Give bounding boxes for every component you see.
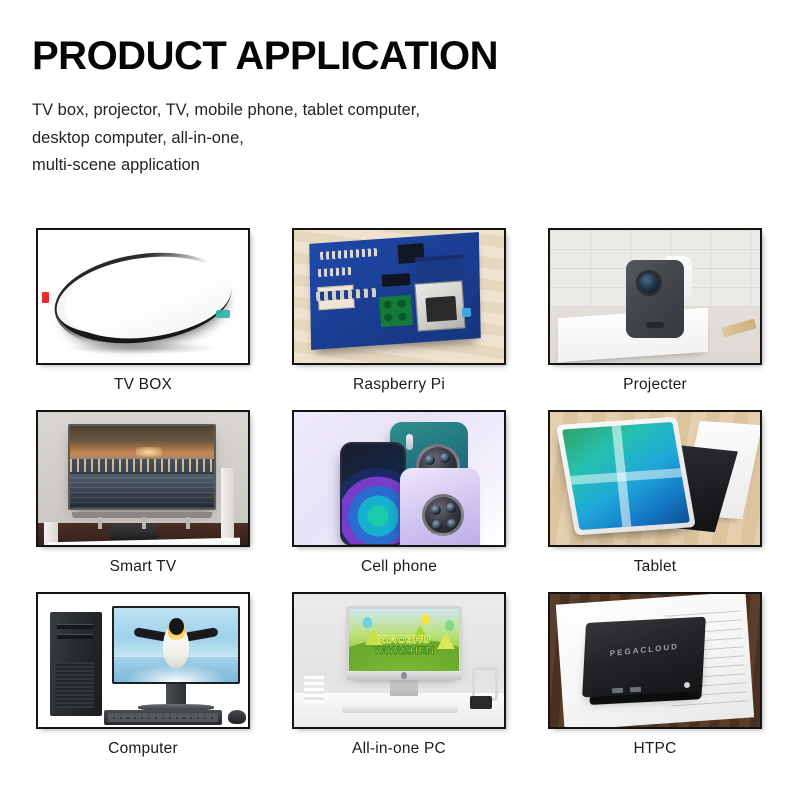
gallery-item-tv-box: TV BOX (36, 228, 250, 405)
caption-htpc: HTPC (548, 729, 762, 769)
desktop-tower (50, 612, 102, 716)
mouse (228, 710, 246, 724)
caption-tv-box: TV BOX (36, 365, 250, 405)
htpc-brand-label: PEGACLOUD (610, 641, 679, 657)
caption-raspberry-pi: Raspberry Pi (292, 365, 506, 405)
monitor-bezel (112, 606, 240, 684)
tablet-body (556, 417, 696, 536)
pcb-green-terminal (379, 295, 413, 327)
aio-chin (346, 671, 462, 680)
phone-camera-module-2 (422, 494, 464, 536)
header: PRODUCT APPLICATION TV box, projector, T… (32, 36, 768, 180)
tv-screen-image (70, 426, 214, 508)
aio-screen: XIAOZHU YAYAZHEN (349, 609, 459, 675)
page-title: PRODUCT APPLICATION (32, 36, 768, 77)
monitor-screen (114, 608, 238, 682)
gallery-item-projector: Projecter (548, 228, 762, 405)
htpc-photo: PEGACLOUD (550, 594, 760, 727)
subtitle-line-2: desktop computer, all-in-one, (32, 125, 768, 153)
htpc-thumbnail[interactable]: PEGACLOUD (548, 592, 762, 729)
desk-camera (470, 696, 492, 709)
penguin-head (169, 618, 184, 635)
tablet-screen (562, 422, 690, 530)
pcb-blue-led (462, 308, 472, 318)
tablet-photo (550, 412, 760, 545)
tower-front-mesh (56, 662, 94, 708)
tv-bezel (68, 424, 216, 510)
camera-lens (440, 453, 450, 463)
aio-stand-foot (390, 680, 418, 696)
caption-smart-tv: Smart TV (36, 547, 250, 587)
gallery-item-cell-phone: Cell phone (292, 410, 506, 587)
subtitle-line-1: TV box, projector, TV, mobile phone, tab… (32, 97, 768, 125)
gallery-item-tablet: Tablet (548, 410, 762, 587)
tower-drive-bay (57, 634, 93, 639)
htpc-usb-port (630, 687, 641, 693)
caption-tablet: Tablet (548, 547, 762, 587)
phone-flash-strip (406, 434, 413, 450)
stacked-cups (304, 675, 324, 703)
tv-box-photo (38, 230, 248, 363)
pcb-rj45-jack (414, 280, 465, 331)
camera-lens (447, 519, 457, 529)
tv-box-led-indicator (42, 292, 49, 303)
projector-vent (646, 322, 664, 328)
caption-cell-phone: Cell phone (292, 547, 506, 587)
all-in-one-pc-thumbnail[interactable]: XIAOZHU YAYAZHEN (292, 592, 506, 729)
tv-box-thumbnail[interactable] (36, 228, 250, 365)
console-legs (58, 517, 230, 529)
cell-phone-photo (294, 412, 504, 545)
projector-thumbnail[interactable] (548, 228, 762, 365)
caption-computer: Computer (36, 729, 250, 769)
penguin-wing-right (184, 627, 219, 642)
keyboard (104, 710, 222, 725)
aio-keyboard (342, 706, 458, 713)
camera-lens (432, 520, 442, 530)
gallery-item-raspberry-pi: Raspberry Pi (292, 228, 506, 405)
computer-photo (38, 594, 248, 727)
gallery-item-all-in-one-pc: XIAOZHU YAYAZHEN All-in-one PC (292, 592, 506, 769)
screen-balloon (421, 614, 430, 625)
tower-drive-bay (57, 624, 93, 629)
tv-sunset-glow (136, 447, 162, 457)
subtitle-line-3: multi-scene application (32, 152, 768, 180)
pcb-chip-secondary (382, 273, 411, 287)
tv-box-teal-accent (216, 310, 230, 318)
tablet-thumbnail[interactable] (548, 410, 762, 547)
all-in-one-pc-photo: XIAOZHU YAYAZHEN (294, 594, 504, 727)
gallery-item-computer: Computer (36, 592, 250, 769)
projector-lens (636, 270, 662, 296)
aio-bezel: XIAOZHU YAYAZHEN (346, 606, 462, 680)
htpc-usb-port (612, 688, 623, 694)
product-application-page: PRODUCT APPLICATION TV box, projector, T… (0, 0, 800, 800)
raspberry-pi-photo (294, 230, 504, 363)
caption-all-in-one-pc: All-in-one PC (292, 729, 506, 769)
caption-projector: Projecter (548, 365, 762, 405)
gallery-item-htpc: PEGACLOUD HTPC (548, 592, 762, 769)
tv-city-lights (70, 459, 214, 472)
screen-headline-line2: YAYAZHEN (349, 646, 459, 657)
floor-speaker-right (221, 468, 234, 545)
tv-water (70, 474, 214, 508)
gallery-item-smart-tv: Smart TV (36, 410, 250, 587)
screen-balloon (445, 620, 454, 631)
computer-thumbnail[interactable] (36, 592, 250, 729)
phone-front-display (340, 442, 406, 545)
smart-tv-photo (38, 412, 248, 545)
wooden-stick (721, 319, 756, 338)
camera-lens (425, 455, 435, 465)
apple-logo-icon (401, 672, 407, 679)
raspberry-pi-thumbnail[interactable] (292, 228, 506, 365)
smart-tv-thumbnail[interactable] (36, 410, 250, 547)
page-subtitle: TV box, projector, TV, mobile phone, tab… (32, 97, 768, 180)
camera-lens (446, 503, 456, 513)
cell-phone-thumbnail[interactable] (292, 410, 506, 547)
projector-photo (550, 230, 760, 363)
application-gallery-grid: TV BOX Raspberry Pi (36, 228, 762, 769)
monitor-stand (166, 684, 186, 706)
camera-lens (431, 505, 441, 515)
screen-balloon (363, 617, 372, 628)
